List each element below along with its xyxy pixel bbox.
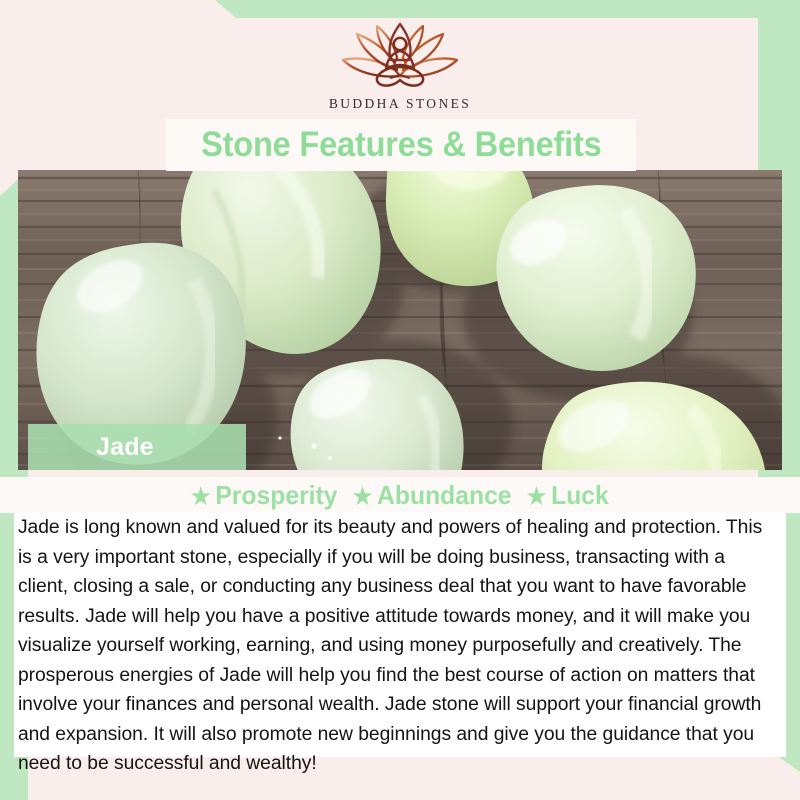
- brand-name: BUDDHA STONES: [310, 96, 490, 112]
- benefit-item-luck: Luck: [551, 480, 609, 510]
- description-text: Jade is long known and valued for its be…: [14, 513, 774, 779]
- stone-name-badge: Jade: [28, 424, 246, 470]
- benefits-list: ★Prosperity★Abundance★Luck: [191, 480, 609, 511]
- benefit-item-abundance: Abundance: [377, 480, 511, 510]
- star-icon: ★: [527, 483, 547, 509]
- brand-header: BUDDHA STONES: [0, 0, 800, 118]
- lotus-meditation-icon: [310, 20, 490, 92]
- brand-logo: BUDDHA STONES: [310, 20, 490, 112]
- star-icon: ★: [353, 483, 373, 509]
- benefit-item-prosperity: Prosperity: [215, 480, 337, 510]
- stone-name-label: Jade: [28, 433, 154, 462]
- benefits-row: ★Prosperity★Abundance★Luck: [0, 477, 800, 513]
- star-icon: ★: [191, 483, 211, 509]
- title-banner: Stone Features & Benefits: [166, 119, 636, 171]
- page-title: Stone Features & Benefits: [201, 125, 602, 165]
- description-card: Jade is long known and valued for its be…: [14, 513, 786, 757]
